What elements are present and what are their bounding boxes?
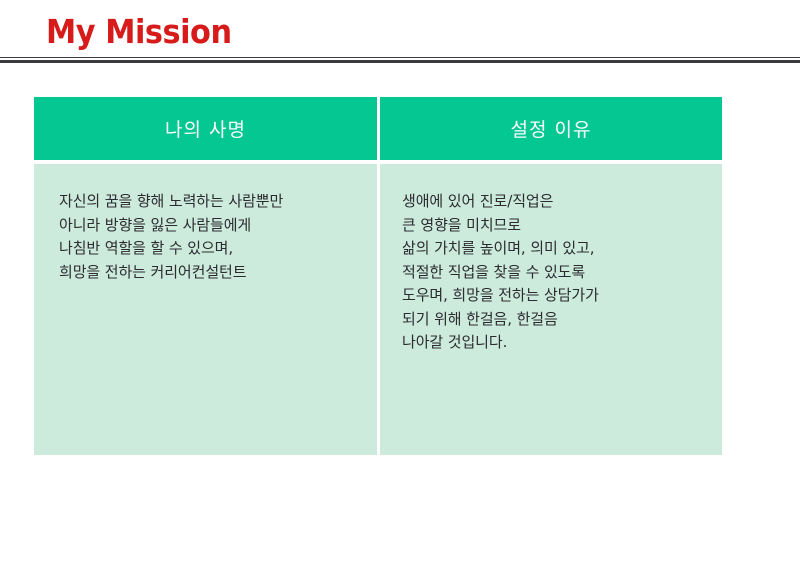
page-title: My Mission xyxy=(46,12,232,52)
table-body-row: 자신의 꿈을 향해 노력하는 사람뿐만 아니라 방향을 잃은 사람들에게 나침반… xyxy=(34,164,722,455)
slide-canvas: My Mission 나의 사명 설정 이유 자신의 꿈을 향해 노력하는 사람… xyxy=(0,0,800,571)
title-divider xyxy=(0,57,800,64)
table-header-row: 나의 사명 설정 이유 xyxy=(34,97,722,160)
divider-thick-line xyxy=(0,60,800,63)
table-cell-reason-text: 생애에 있어 진로/직업은 큰 영향을 미치므로 삶의 가치를 높이며, 의미 … xyxy=(380,164,722,455)
mission-table: 나의 사명 설정 이유 자신의 꿈을 향해 노력하는 사람뿐만 아니라 방향을 … xyxy=(34,97,722,455)
table-header-cell-mission: 나의 사명 xyxy=(34,97,377,160)
table-header-cell-reason: 설정 이유 xyxy=(380,97,722,160)
table-cell-mission-text: 자신의 꿈을 향해 노력하는 사람뿐만 아니라 방향을 잃은 사람들에게 나침반… xyxy=(34,164,377,455)
